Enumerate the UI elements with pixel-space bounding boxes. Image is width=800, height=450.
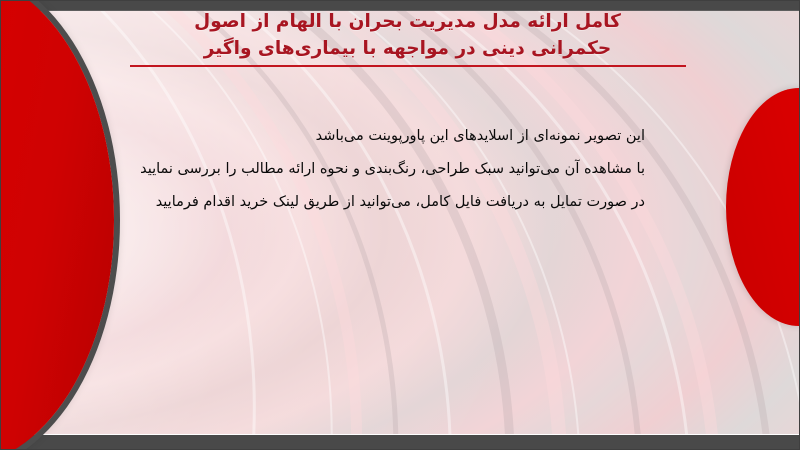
slide-title-line-2: حکمرانی دینی در مواجهه با بیماری‌های واگ… xyxy=(120,35,695,62)
slide-title: کامل ارائه مدل مدیریت بحران با الهام از … xyxy=(120,8,695,67)
slide-title-line-1: کامل ارائه مدل مدیریت بحران با الهام از … xyxy=(120,8,695,35)
title-underline-rule xyxy=(130,65,686,67)
slide-body-text: این تصویر نمونه‌ای از اسلایدهای این پاور… xyxy=(60,120,645,219)
arc-svg xyxy=(0,11,800,434)
presentation-slide: کامل ارائه مدل مدیریت بحران با الهام از … xyxy=(0,0,800,450)
body-line-2: با مشاهده آن می‌توانید سبک طراحی، رنگ‌بن… xyxy=(60,153,645,186)
body-line-3: در صورت تمایل به دریافت فایل کامل، می‌تو… xyxy=(60,186,645,219)
bottom-frame-bar xyxy=(0,434,800,450)
background-arc-decoration xyxy=(0,11,800,434)
body-line-1: این تصویر نمونه‌ای از اسلایدهای این پاور… xyxy=(60,120,645,153)
slide-background xyxy=(0,11,800,434)
